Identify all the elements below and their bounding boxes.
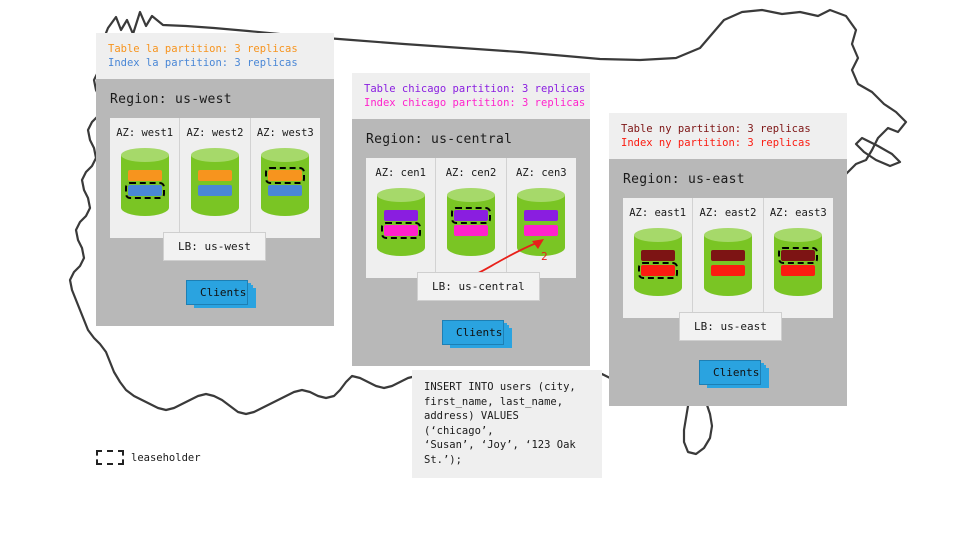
az-label: AZ: west2: [180, 127, 249, 139]
legend-leaseholder: leaseholder: [96, 450, 201, 465]
table-partition-line: Table la partition: 3 replicas: [108, 42, 323, 56]
table-replica-bar[interactable]: [781, 250, 815, 261]
replica-bars: [377, 210, 425, 236]
replica-bars: [774, 250, 822, 276]
node-cylinder[interactable]: [191, 148, 239, 216]
az-row-us-west: AZ: west1 AZ: west2: [110, 118, 320, 238]
az-west2[interactable]: AZ: west2: [180, 118, 250, 238]
table-replica-bar[interactable]: [641, 250, 675, 261]
replica-bars: [634, 250, 682, 276]
cylinder-top: [704, 228, 752, 242]
table-replica-bar[interactable]: [384, 210, 418, 221]
dashed-rect-icon: [96, 450, 124, 465]
az-label: AZ: west1: [110, 127, 179, 139]
diagram-canvas: Table la partition: 3 replicas Index la …: [0, 0, 960, 540]
cylinder-top: [447, 188, 495, 202]
index-replica-bar[interactable]: [641, 265, 675, 276]
index-partition-line: Index la partition: 3 replicas: [108, 56, 323, 70]
az-row-us-east: AZ: east1 AZ: east2: [623, 198, 833, 318]
table-replica-bar[interactable]: [198, 170, 232, 181]
node-cylinder[interactable]: [704, 228, 752, 296]
cylinder-top: [774, 228, 822, 242]
cylinder-top: [634, 228, 682, 242]
index-replica-bar[interactable]: [198, 185, 232, 196]
clients-us-east[interactable]: Clients: [699, 360, 771, 388]
cylinder-top: [517, 188, 565, 202]
replica-bars: [191, 170, 239, 196]
az-label: AZ: east2: [693, 207, 762, 219]
index-replica-bar[interactable]: [711, 265, 745, 276]
az-east1[interactable]: AZ: east1: [623, 198, 693, 318]
cylinder-top: [261, 148, 309, 162]
table-replica-bar[interactable]: [711, 250, 745, 261]
partition-header-us-east: Table ny partition: 3 replicas Index ny …: [609, 113, 847, 159]
node-cylinder[interactable]: [774, 228, 822, 296]
clients-label[interactable]: Clients: [699, 360, 761, 385]
table-partition-line: Table ny partition: 3 replicas: [621, 122, 836, 136]
index-replica-bar[interactable]: [268, 185, 302, 196]
region-title: Region: us-central: [352, 119, 590, 158]
load-balancer-us-east[interactable]: LB: us-east: [679, 312, 782, 341]
load-balancer-us-west[interactable]: LB: us-west: [163, 232, 266, 261]
table-replica-bar[interactable]: [128, 170, 162, 181]
replica-bars: [261, 170, 309, 196]
clients-label[interactable]: Clients: [186, 280, 248, 305]
az-east2[interactable]: AZ: east2: [693, 198, 763, 318]
sql-statement-box: INSERT INTO users (city, first_name, las…: [412, 370, 602, 478]
index-replica-bar[interactable]: [128, 185, 162, 196]
index-replica-bar[interactable]: [781, 265, 815, 276]
az-label: AZ: west3: [251, 127, 320, 139]
node-cylinder[interactable]: [377, 188, 425, 256]
index-partition-line: Index chicago partition: 3 replicas: [364, 96, 579, 110]
az-label: AZ: cen2: [436, 167, 505, 179]
replica-bars: [121, 170, 169, 196]
cylinder-top: [121, 148, 169, 162]
legend-label: leaseholder: [131, 452, 201, 464]
cylinder-top: [191, 148, 239, 162]
az-label: AZ: cen3: [507, 167, 576, 179]
replica-bars: [704, 250, 752, 276]
clients-label[interactable]: Clients: [442, 320, 504, 345]
load-balancer-us-central[interactable]: LB: us-central: [417, 272, 540, 301]
node-cylinder[interactable]: [261, 148, 309, 216]
clients-us-central[interactable]: Clients: [442, 320, 514, 348]
region-title: Region: us-west: [96, 79, 334, 118]
partition-header-us-central: Table chicago partition: 3 replicas Inde…: [352, 73, 590, 119]
az-cen1[interactable]: AZ: cen1: [366, 158, 436, 278]
az-label: AZ: east1: [623, 207, 692, 219]
az-label: AZ: east3: [764, 207, 833, 219]
table-replica-bar[interactable]: [268, 170, 302, 181]
partition-header-us-west: Table la partition: 3 replicas Index la …: [96, 33, 334, 79]
arrow-step-number: 2: [541, 250, 548, 263]
index-replica-bar[interactable]: [384, 225, 418, 236]
node-cylinder[interactable]: [121, 148, 169, 216]
clients-us-west[interactable]: Clients: [186, 280, 258, 308]
az-west1[interactable]: AZ: west1: [110, 118, 180, 238]
index-partition-line: Index ny partition: 3 replicas: [621, 136, 836, 150]
region-title: Region: us-east: [609, 159, 847, 198]
az-label: AZ: cen1: [366, 167, 435, 179]
node-cylinder[interactable]: [634, 228, 682, 296]
cylinder-top: [377, 188, 425, 202]
table-partition-line: Table chicago partition: 3 replicas: [364, 82, 579, 96]
az-west3[interactable]: AZ: west3: [251, 118, 320, 238]
az-east3[interactable]: AZ: east3: [764, 198, 833, 318]
